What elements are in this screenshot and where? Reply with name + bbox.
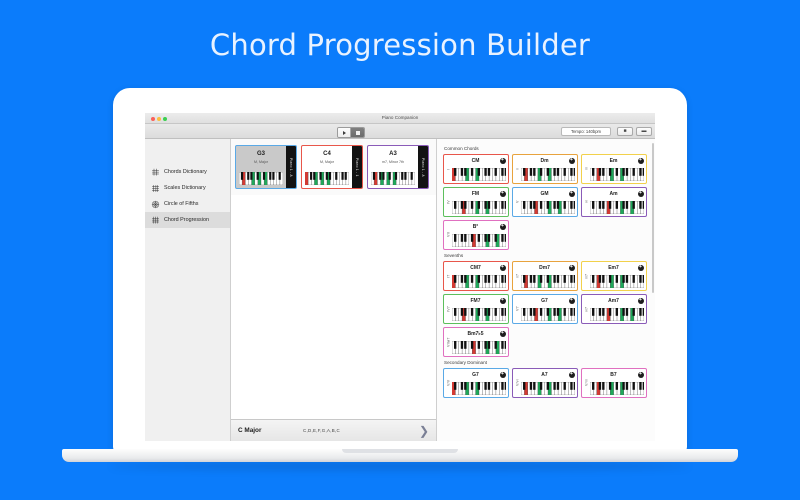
chord-degree: V7 [514, 295, 521, 323]
chord-card[interactable]: ICM+ [443, 154, 509, 184]
stop-icon [356, 131, 360, 135]
chord-degree: ii7 [514, 262, 521, 290]
mini-keyboard [452, 308, 506, 321]
progression-strip: G3 M, Major Piano 1 - A [231, 139, 436, 195]
chord-card[interactable]: iiiEm+ [581, 154, 647, 184]
chord-degree: V/vi [514, 369, 521, 397]
chord-name: CM [452, 158, 499, 164]
play-icon [343, 131, 346, 135]
chord-name: G7 [452, 372, 499, 378]
app-body: Chords Dictionary Scales Dictionar [145, 139, 655, 441]
stop-button[interactable] [351, 128, 364, 137]
chord-degree: I7 [445, 262, 452, 290]
add-chord-button[interactable]: + [500, 298, 506, 304]
mini-keyboard [521, 382, 575, 395]
progression-card-instrument: Piano 1 - A [418, 146, 428, 188]
chord-degree: VII [445, 221, 452, 249]
sidebar-item-chord-progression[interactable]: Chord Progression [145, 212, 230, 228]
chord-degree: V/iii [583, 369, 590, 397]
mini-keyboard [590, 168, 644, 181]
chord-name: CM7 [452, 265, 499, 271]
sidebar-item-label: Chord Progression [164, 217, 209, 223]
chord-degree: ii [514, 155, 521, 183]
group-title: Secondary Dominant [444, 360, 650, 365]
screenshot-stage: Chord Progression Builder Piano Companio… [0, 0, 800, 500]
chord-name: B7 [590, 372, 637, 378]
chord-card[interactable]: iiDm+ [512, 154, 578, 184]
statusbar: C Major C,D,E,F,G,A,B,C ❯ [231, 419, 436, 441]
chord-grid: I7CM7+ii7Dm7+iii7Em7+IV7FM7+V7G7+vi7Am7+… [443, 261, 650, 357]
sidebar-item-chords-dictionary[interactable]: Chords Dictionary [145, 164, 230, 180]
group-title: Common Chords [444, 146, 650, 151]
next-chevron-icon[interactable]: ❯ [419, 425, 429, 437]
scales-icon [151, 184, 160, 193]
mini-keyboard [452, 341, 506, 354]
instrument-label: Piano 1 - A [421, 158, 425, 177]
chord-name: G3 [257, 151, 265, 157]
chord-name: Em [590, 158, 637, 164]
chord-card[interactable]: I7CM7+ [443, 261, 509, 291]
chord-name: Bm7♭5 [452, 331, 499, 337]
mini-keyboard [239, 172, 283, 185]
add-chord-button[interactable]: + [569, 298, 575, 304]
page-title: Chord Progression Builder [0, 28, 800, 62]
chord-degree: IV7 [445, 295, 452, 323]
instrument-label: Piano 1 - A [289, 158, 293, 177]
add-chord-button[interactable]: + [569, 158, 575, 164]
scale-name: C Major [238, 427, 261, 434]
sidebar-item-scales-dictionary[interactable]: Scales Dictionary [145, 180, 230, 196]
chord-degree: V/V [445, 369, 452, 397]
laptop-shadow [110, 462, 690, 470]
add-chord-button[interactable]: + [638, 372, 644, 378]
progression-card-instrument: Piano 1 - A [286, 146, 296, 188]
progression-card[interactable]: G3 M, Major Piano 1 - A [235, 145, 297, 189]
add-chord-button[interactable]: + [638, 191, 644, 197]
chord-card[interactable]: iii7Em7+ [581, 261, 647, 291]
chord-card[interactable]: VIIø7Bm7♭5+ [443, 327, 509, 357]
chord-degree: iii7 [583, 262, 590, 290]
chord-quality: m7, Minor 7th [382, 160, 404, 164]
sidebar-item-circle-of-fifths[interactable]: Circle of Fifths [145, 196, 230, 212]
circle-of-fifths-icon [151, 200, 160, 209]
mini-keyboard [521, 308, 575, 321]
app-toolbar: Tempo: 140bpm ■ ▬ [145, 124, 655, 139]
mini-keyboard [590, 382, 644, 395]
mini-keyboard [590, 308, 644, 321]
chord-name: G7 [521, 298, 568, 304]
chord-card[interactable]: V/viA7+ [512, 368, 578, 398]
add-chord-button[interactable]: + [500, 191, 506, 197]
sidebar-item-label: Scales Dictionary [164, 185, 206, 191]
transport-controls [337, 127, 365, 138]
progression-card[interactable]: C4 M, Major Piano 1 - 1 [301, 145, 363, 189]
progression-column: G3 M, Major Piano 1 - A [231, 139, 437, 441]
chord-grid: V/VG7+V/viA7+V/iiiB7+ [443, 368, 650, 398]
add-chord-button[interactable]: + [569, 265, 575, 271]
progression-card-instrument: Piano 1 - 1 [352, 146, 362, 188]
add-chord-button[interactable]: + [500, 158, 506, 164]
mini-keyboard [305, 172, 349, 185]
chord-degree: iii [583, 155, 590, 183]
instrument-label: Piano 1 - 1 [355, 158, 359, 177]
chord-browser-panel[interactable]: Common Chords ICM+iiDm+iiiEm+IVFM+VGM+vi… [437, 139, 655, 441]
tempo-field[interactable]: Tempo: 140bpm [561, 127, 611, 136]
play-button[interactable] [338, 128, 351, 137]
app-window: Piano Companion Tempo: 140bpm ■ ▬ [145, 113, 655, 441]
add-button[interactable]: ▬ [636, 127, 652, 136]
chord-degree: V [514, 188, 521, 216]
add-chord-button[interactable]: + [500, 331, 506, 337]
mini-keyboard [590, 201, 644, 214]
chord-name: FM7 [452, 298, 499, 304]
chord-card[interactable]: VIIB°+ [443, 220, 509, 250]
mini-keyboard [452, 382, 506, 395]
mini-keyboard [452, 201, 506, 214]
add-chord-button[interactable]: + [638, 265, 644, 271]
mini-keyboard [371, 172, 415, 185]
chord-name: Am7 [590, 298, 637, 304]
mini-keyboard [521, 201, 575, 214]
chord-quality: M, Major [320, 160, 334, 164]
chord-name: Dm7 [521, 265, 568, 271]
add-chord-button[interactable]: + [569, 372, 575, 378]
trash-icon: ■ [623, 129, 626, 134]
add-chord-button[interactable]: + [638, 298, 644, 304]
mini-keyboard [452, 234, 506, 247]
chord-name: GM [521, 191, 568, 197]
mini-keyboard [590, 275, 644, 288]
add-chord-button[interactable]: + [500, 372, 506, 378]
progression-card[interactable]: A3 m7, Minor 7th Piano 1 - A [367, 145, 429, 189]
chord-card[interactable]: V7G7+ [512, 294, 578, 324]
sidebar: Chords Dictionary Scales Dictionar [145, 139, 231, 441]
window-titlebar: Piano Companion [145, 113, 655, 124]
laptop-base [62, 449, 738, 462]
group-title: Sevenths [444, 253, 650, 258]
add-chord-button[interactable]: + [500, 224, 506, 230]
plus-icon: ▬ [642, 129, 647, 134]
scale-notes: C,D,E,F,G,A,B,C [303, 428, 340, 433]
add-chord-button[interactable]: + [569, 191, 575, 197]
chord-card[interactable]: V/VG7+ [443, 368, 509, 398]
mini-keyboard [452, 168, 506, 181]
panel-scrollbar[interactable] [652, 143, 654, 293]
chord-degree: VIIø7 [445, 328, 452, 356]
chord-card[interactable]: V/iiiB7+ [581, 368, 647, 398]
chord-card[interactable]: viAm+ [581, 187, 647, 217]
chord-name: Em7 [590, 265, 637, 271]
delete-button[interactable]: ■ [617, 127, 633, 136]
chord-quality: M, Major [254, 160, 268, 164]
chord-degree: I [445, 155, 452, 183]
window-title: Piano Companion [145, 115, 655, 120]
chord-card[interactable]: VGM+ [512, 187, 578, 217]
mini-keyboard [521, 168, 575, 181]
chord-name: FM [452, 191, 499, 197]
chord-card[interactable]: IV7FM7+ [443, 294, 509, 324]
sidebar-item-label: Circle of Fifths [164, 201, 198, 207]
chord-name: B° [452, 224, 499, 230]
add-chord-button[interactable]: + [638, 158, 644, 164]
mini-keyboard [452, 275, 506, 288]
chord-degree: vi7 [583, 295, 590, 323]
chord-card[interactable]: vi7Am7+ [581, 294, 647, 324]
chord-name: Dm [521, 158, 568, 164]
chord-degree: IV [445, 188, 452, 216]
sidebar-item-label: Chords Dictionary [164, 169, 207, 175]
chord-name: C4 [323, 151, 331, 157]
chords-icon [151, 168, 160, 177]
chord-progression-icon [151, 216, 160, 225]
chord-degree: vi [583, 188, 590, 216]
progression-canvas[interactable] [231, 195, 436, 419]
add-chord-button[interactable]: + [500, 265, 506, 271]
chord-name: Am [590, 191, 637, 197]
chord-card[interactable]: ii7Dm7+ [512, 261, 578, 291]
chord-name: A7 [521, 372, 568, 378]
mini-keyboard [521, 275, 575, 288]
chord-name: A3 [389, 151, 397, 157]
chord-card[interactable]: IVFM+ [443, 187, 509, 217]
chord-grid: ICM+iiDm+iiiEm+IVFM+VGM+viAm+VIIB°+ [443, 154, 650, 250]
